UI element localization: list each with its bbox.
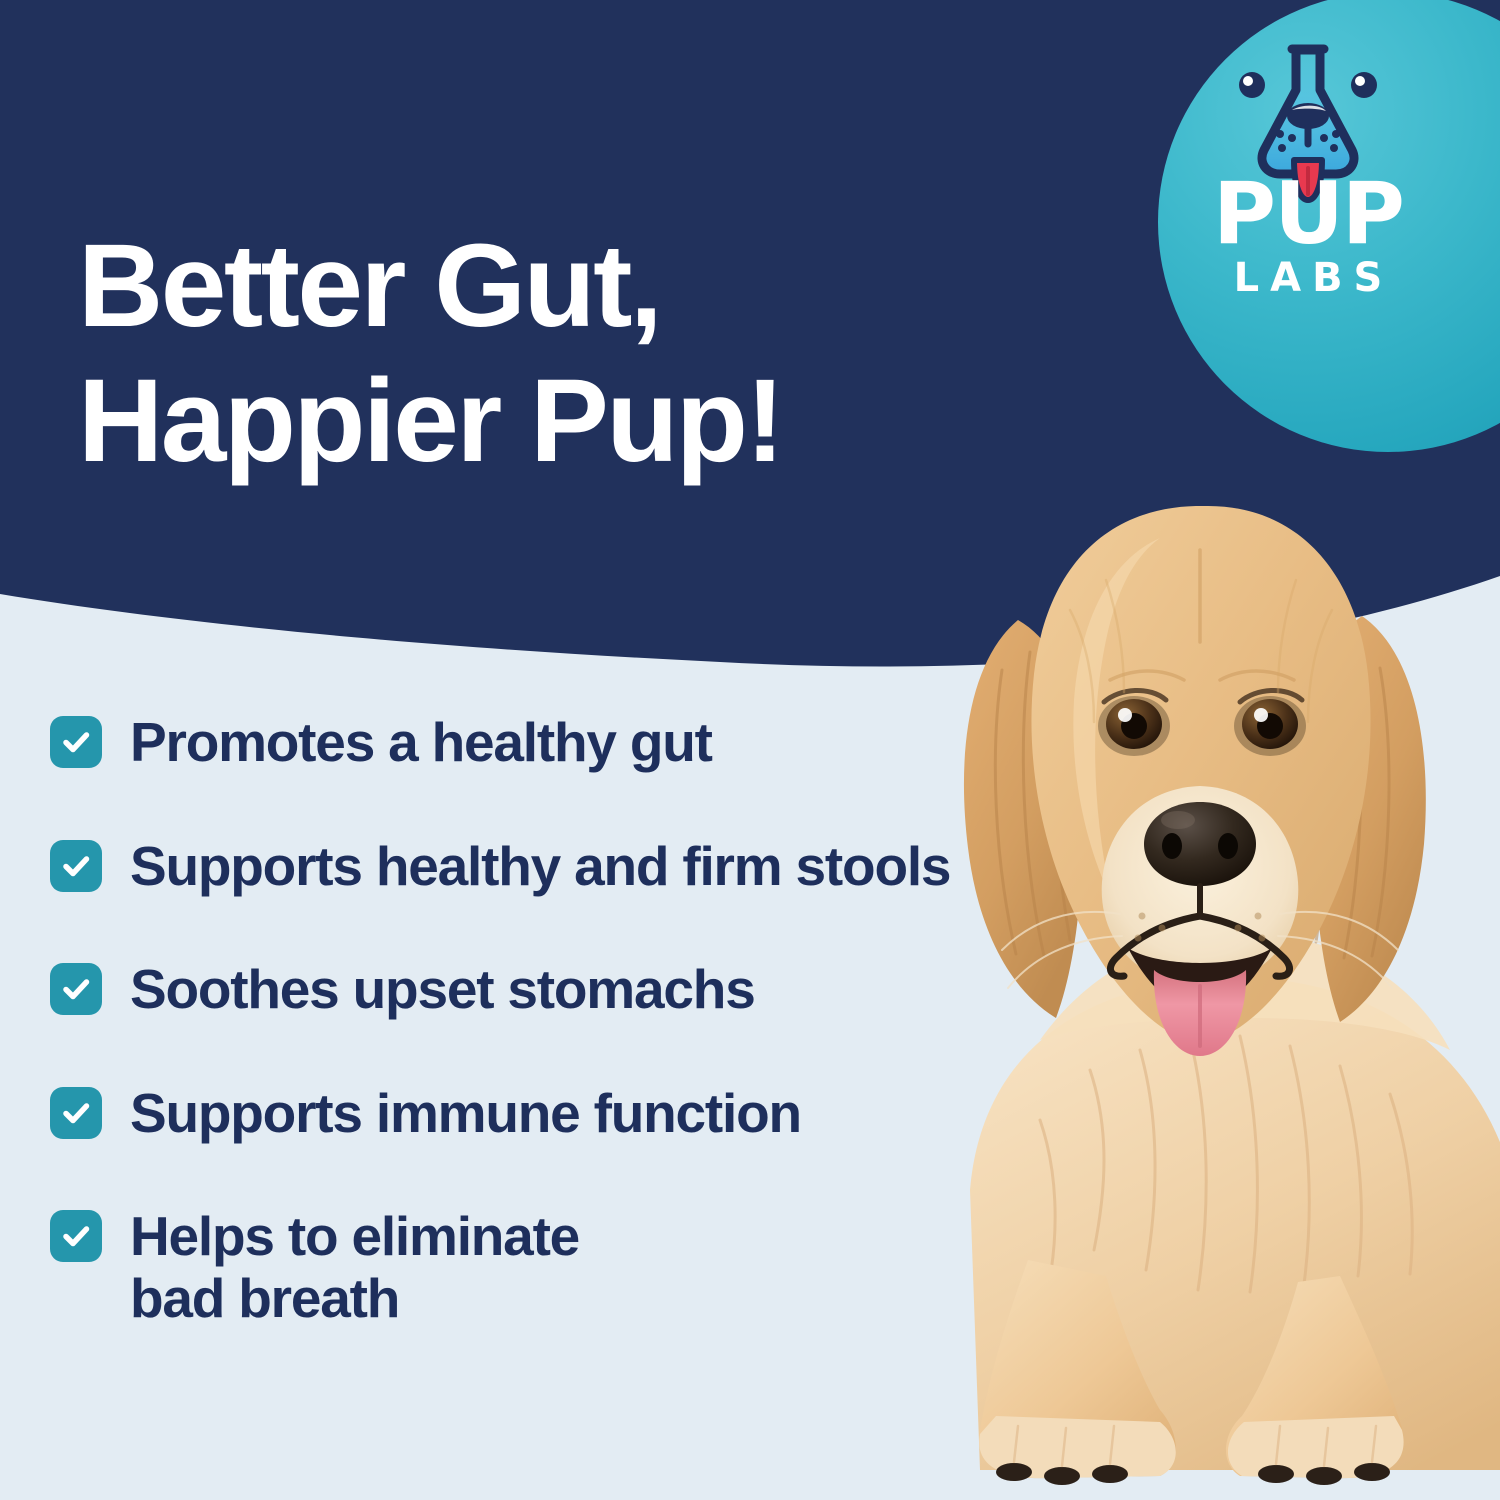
list-item: Supports healthy and firm stools — [50, 836, 1030, 898]
headline-line-2: Happier Pup! — [78, 354, 782, 489]
benefit-label: Promotes a healthy gut — [130, 712, 712, 774]
check-icon — [50, 1087, 102, 1139]
list-item: Soothes upset stomachs — [50, 959, 1030, 1021]
benefit-label: Supports healthy and firm stools — [130, 836, 950, 898]
list-item: Helps to eliminate bad breath — [50, 1206, 1030, 1329]
check-icon — [50, 840, 102, 892]
check-icon — [50, 963, 102, 1015]
list-item: Promotes a healthy gut — [50, 712, 1030, 774]
headline-line-1: Better Gut, — [78, 219, 782, 354]
benefit-label: Soothes upset stomachs — [130, 959, 755, 1021]
check-icon — [50, 1210, 102, 1262]
benefit-label: Helps to eliminate bad breath — [130, 1206, 579, 1329]
check-icon — [50, 716, 102, 768]
product-benefits-poster: PUP LABS Better Gut, Happier Pup! Promot… — [0, 0, 1500, 1500]
benefits-list: Promotes a healthy gut Supports healthy … — [50, 712, 1030, 1330]
page-title: Better Gut, Happier Pup! — [78, 219, 782, 488]
brand-logo[interactable]: PUP LABS — [1158, 0, 1500, 452]
list-item: Supports immune function — [50, 1083, 1030, 1145]
benefit-label: Supports immune function — [130, 1083, 801, 1145]
logo-wordmark: PUP — [1213, 178, 1403, 252]
